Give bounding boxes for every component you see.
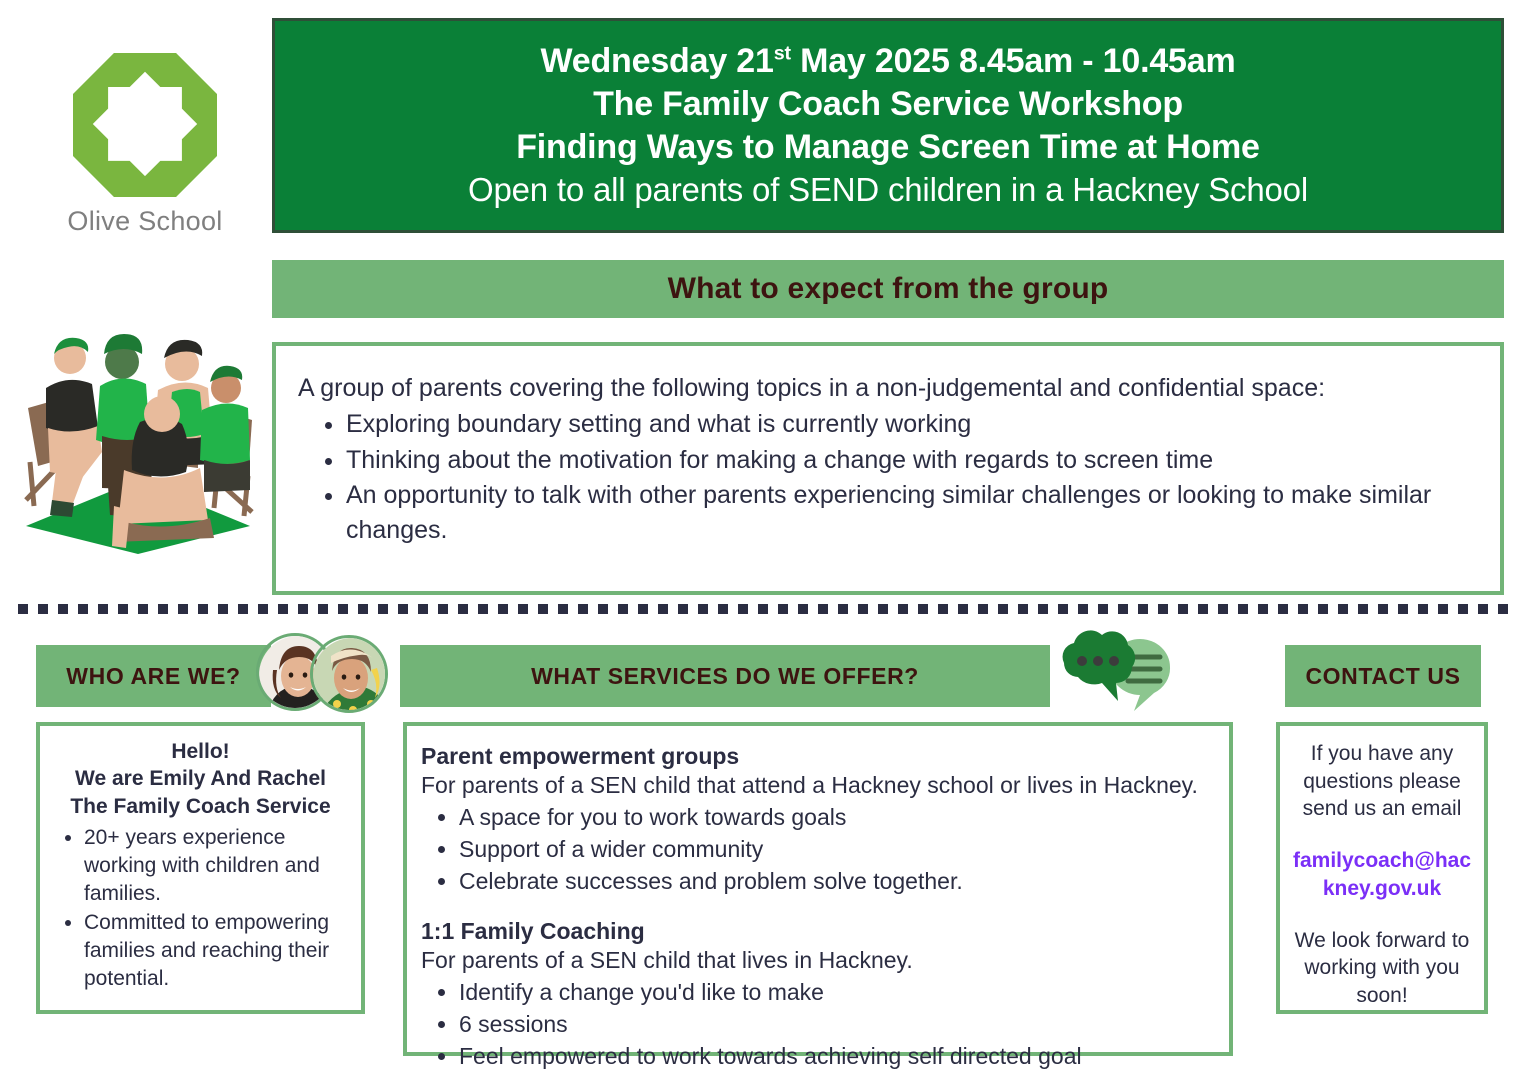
logo-label: Olive School <box>40 206 250 237</box>
what-to-expect-box: A group of parents covering the followin… <box>272 342 1504 595</box>
list-item: Committed to empowering families and rea… <box>84 909 349 993</box>
contact-closing-text: We look forward to working with you soon… <box>1290 927 1474 1010</box>
banner-date-rest: May 2025 8.45am - 10.45am <box>791 42 1236 80</box>
expect-intro-text: A group of parents covering the followin… <box>298 372 1478 405</box>
service-coaching-bullet-list: Identify a change you'd like to make 6 s… <box>421 977 1215 1071</box>
who-names-text: We are Emily And Rachel <box>52 765 349 792</box>
services-spacer <box>421 897 1215 917</box>
list-item: Feel empowered to work towards achieving… <box>459 1041 1215 1072</box>
who-are-we-header: WHO ARE WE? <box>36 645 271 707</box>
service-title-groups: Parent empowerment groups <box>421 742 1215 771</box>
list-item: A space for you to work towards goals <box>459 802 1215 833</box>
list-item: 20+ years experience working with childr… <box>84 824 349 908</box>
olive-school-octagon-star-logo <box>70 50 220 200</box>
banner-date-main: Wednesday 21 <box>541 42 774 80</box>
avatar-rachel-photo <box>310 635 388 713</box>
list-item: Celebrate successes and problem solve to… <box>459 866 1215 897</box>
banner-line-date: Wednesday 21st May 2025 8.45am - 10.45am <box>275 40 1501 83</box>
service-subtitle-coaching: For parents of a SEN child that lives in… <box>421 946 1215 975</box>
team-avatars <box>256 633 388 715</box>
who-hello-text: Hello! <box>52 738 349 765</box>
contact-us-box: If you have any questions please send us… <box>1276 722 1488 1014</box>
list-item: 6 sessions <box>459 1009 1215 1040</box>
banner-date-ordinal-suffix: st <box>774 43 791 65</box>
what-services-header: WHAT SERVICES DO WE OFFER? <box>400 645 1050 707</box>
service-groups-bullet-list: A space for you to work towards goals Su… <box>421 802 1215 896</box>
who-are-we-box: Hello! We are Emily And Rachel The Famil… <box>36 722 365 1014</box>
who-service-text: The Family Coach Service <box>52 793 349 820</box>
who-bullet-list: 20+ years experience working with childr… <box>52 824 349 993</box>
list-item: Exploring boundary setting and what is c… <box>346 407 1478 442</box>
support-group-illustration <box>12 330 264 558</box>
list-item: Identify a change you'd like to make <box>459 977 1215 1008</box>
contact-email-link[interactable]: familycoach@hackney.gov.uk <box>1290 847 1474 902</box>
contact-intro-text: If you have any questions please send us… <box>1290 740 1474 823</box>
contact-us-header: CONTACT US <box>1285 645 1481 707</box>
section-divider <box>18 604 1518 614</box>
banner-line-topic: Finding Ways to Manage Screen Time at Ho… <box>275 126 1501 169</box>
services-box: Parent empowerment groups For parents of… <box>403 722 1233 1056</box>
service-title-coaching: 1:1 Family Coaching <box>421 917 1215 946</box>
service-subtitle-groups: For parents of a SEN child that attend a… <box>421 771 1215 800</box>
event-banner: Wednesday 21st May 2025 8.45am - 10.45am… <box>272 18 1504 233</box>
expect-bullet-list: Exploring boundary setting and what is c… <box>298 407 1478 547</box>
list-item: Support of a wider community <box>459 834 1215 865</box>
banner-line-workshop: The Family Coach Service Workshop <box>275 83 1501 126</box>
list-item: Thinking about the motivation for making… <box>346 443 1478 478</box>
what-to-expect-header: What to expect from the group <box>272 260 1504 318</box>
banner-line-audience: Open to all parents of SEND children in … <box>275 169 1501 211</box>
speech-bubbles-icon <box>1052 629 1174 711</box>
list-item: An opportunity to talk with other parent… <box>346 478 1478 547</box>
school-logo-block: Olive School <box>40 50 250 237</box>
